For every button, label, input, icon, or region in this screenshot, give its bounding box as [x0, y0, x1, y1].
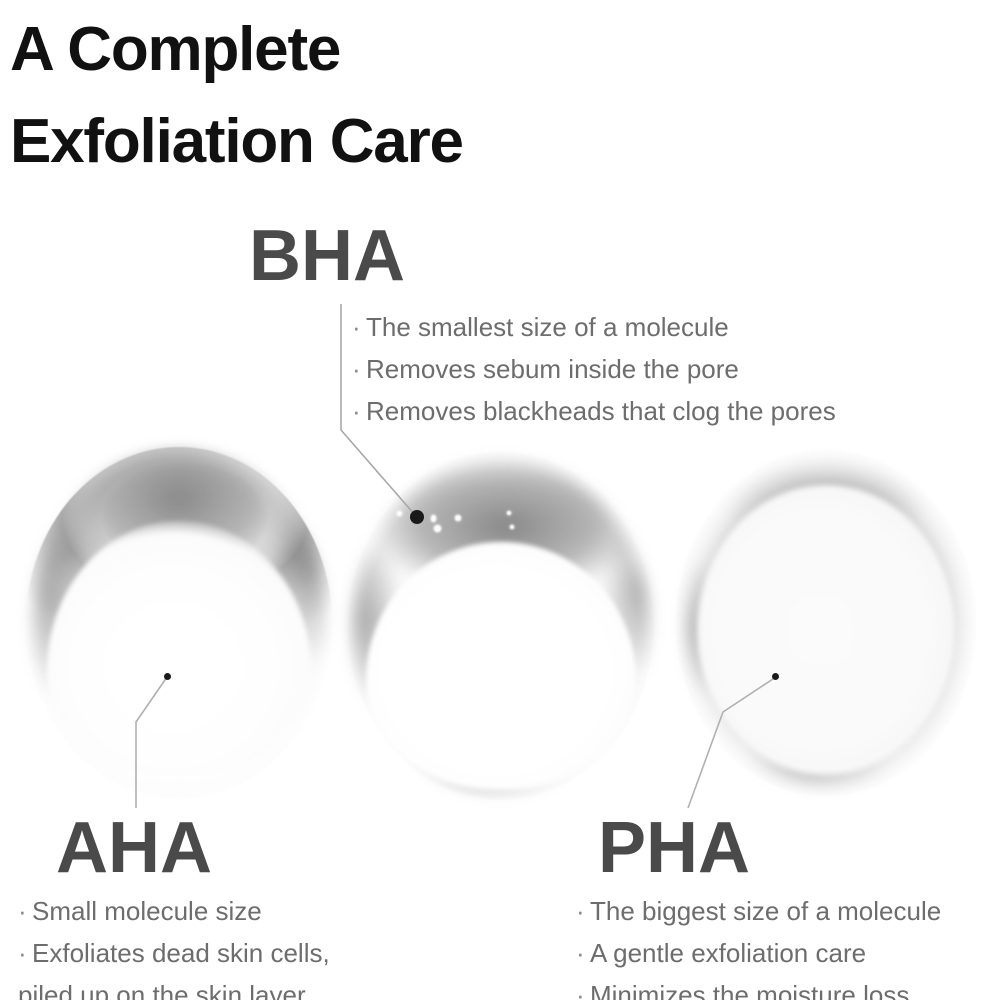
aha-anchor-dot: [164, 673, 171, 680]
list-item: ·Removes sebum inside the pore: [352, 348, 836, 390]
list-item-text: A gentle exfoliation care: [590, 938, 866, 968]
bullet-list-pha: ·The biggest size of a molecule ·A gentl…: [576, 890, 941, 1000]
list-item: ·Minimizes the moisture loss: [576, 974, 941, 1000]
list-item: ·Removes blackheads that clog the pores: [352, 390, 836, 432]
bubble: [498, 657, 515, 674]
bubble: [431, 515, 436, 522]
bubble: [568, 574, 577, 583]
bullet-list-aha: ·Small molecule size ·Exfoliates dead sk…: [18, 890, 330, 1000]
bubble: [510, 525, 514, 529]
list-item-continuation: piled up on the skin layer: [18, 974, 330, 1000]
list-item-text: Removes blackheads that clog the pores: [366, 396, 836, 426]
bullet-marker: ·: [576, 890, 590, 932]
heading-aha: AHA: [56, 812, 212, 884]
bha-gel-droplet: [348, 452, 654, 800]
list-item-text: The smallest size of a molecule: [366, 312, 729, 342]
bubble: [434, 525, 441, 532]
list-item: ·Small molecule size: [18, 890, 330, 932]
list-item-text: The biggest size of a molecule: [590, 896, 941, 926]
list-item: ·The biggest size of a molecule: [576, 890, 941, 932]
list-item: ·The smallest size of a molecule: [352, 306, 836, 348]
list-item-text: Small molecule size: [32, 896, 262, 926]
bullet-marker: ·: [18, 932, 32, 974]
heading-pha: PHA: [598, 812, 750, 884]
list-item: ·Exfoliates dead skin cells,: [18, 932, 330, 974]
bubble: [477, 640, 489, 652]
bullet-marker: ·: [18, 890, 32, 932]
pha-anchor-dot: [772, 673, 779, 680]
bubble: [507, 511, 511, 515]
list-item-text: piled up on the skin layer: [18, 980, 306, 1000]
list-item-text: Removes sebum inside the pore: [366, 354, 739, 384]
list-item-text: Exfoliates dead skin cells,: [32, 938, 330, 968]
bullet-list-bha: ·The smallest size of a molecule ·Remove…: [352, 306, 836, 432]
bullet-marker: ·: [576, 932, 590, 974]
page-title: A Complete Exfoliation Care: [10, 4, 690, 188]
pha-gel-droplet: [676, 450, 976, 796]
bubble: [510, 654, 523, 667]
aha-gel-droplet: [26, 447, 332, 799]
bubble: [216, 609, 225, 618]
bha-anchor-dot: [410, 510, 424, 524]
bubble: [581, 591, 587, 597]
bubble: [455, 515, 461, 521]
bullet-marker: ·: [352, 348, 366, 390]
bullet-marker: ·: [352, 390, 366, 432]
bullet-marker: ·: [576, 974, 590, 1000]
list-item-text: Minimizes the moisture loss: [590, 980, 909, 1000]
bubble: [397, 511, 402, 516]
heading-bha: BHA: [249, 220, 405, 292]
list-item: ·A gentle exfoliation care: [576, 932, 941, 974]
bubble: [562, 643, 573, 654]
infographic-canvas: A Complete Exfoliation Care BHA ·The sma…: [0, 0, 1000, 1000]
bullet-marker: ·: [352, 306, 366, 348]
